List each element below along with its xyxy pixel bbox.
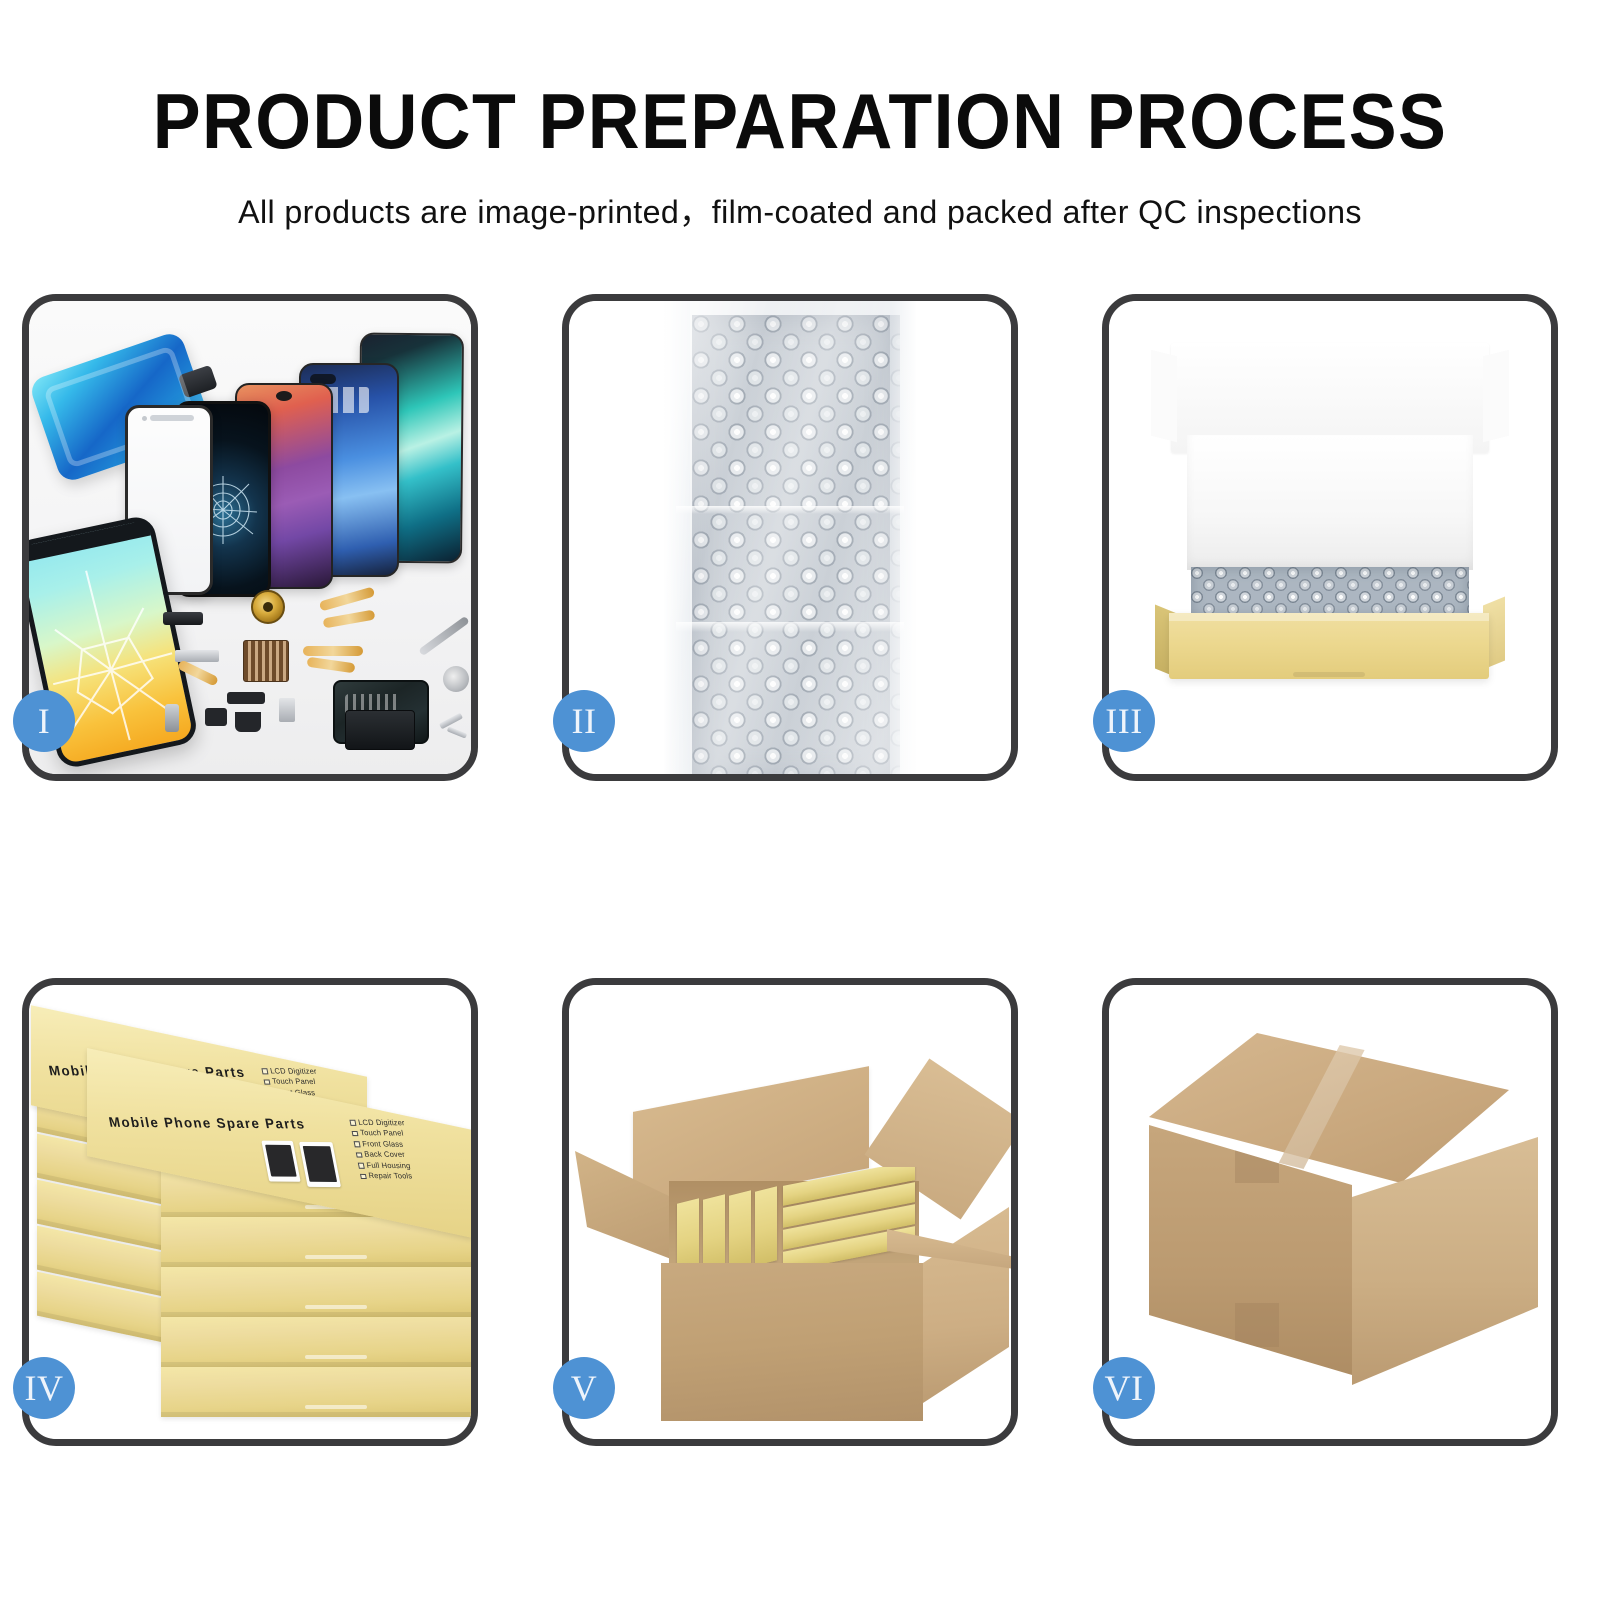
checklist-item: LCD Digitizer	[269, 1066, 317, 1077]
carton-contents	[673, 1167, 917, 1271]
step-numeral: I	[38, 703, 51, 739]
step-badge-3: III	[1093, 690, 1155, 752]
step-badge-1: I	[13, 690, 75, 752]
step-2-image	[569, 301, 1011, 774]
carton-left-face	[1149, 1125, 1352, 1375]
step-badge-5: V	[553, 1357, 615, 1419]
step-numeral: III	[1105, 703, 1142, 739]
step-badge-6: VI	[1093, 1357, 1155, 1419]
step-5-image	[569, 985, 1011, 1439]
step-numeral: IV	[25, 1370, 64, 1406]
step-6-image	[1109, 985, 1551, 1439]
step-panel-5: V	[562, 978, 1018, 1446]
step-3-image	[1109, 301, 1551, 774]
step-numeral: II	[572, 703, 597, 739]
carton-front-face	[661, 1263, 923, 1421]
step-panel-4: Mobile Phone Spare Parts LCD Digitizer T…	[22, 978, 478, 1446]
process-step-grid: I II	[0, 0, 1600, 1600]
step-4-image: Mobile Phone Spare Parts LCD Digitizer T…	[29, 985, 471, 1439]
checklist-item: Repair Tools	[368, 1171, 414, 1182]
stacked-boxes-scene: Mobile Phone Spare Parts LCD Digitizer T…	[29, 985, 471, 1439]
checklist-item: LCD Digitizer	[357, 1118, 405, 1129]
step-badge-2: II	[553, 690, 615, 752]
bubble-wrap-scene	[569, 301, 1011, 774]
step-panel-1: I	[22, 294, 478, 781]
retail-box-brand: Mobile Phone Spare Parts	[108, 1114, 307, 1131]
infographic-page: PRODUCT PREPARATION PROCESS All products…	[0, 0, 1600, 1600]
phones-and-parts-scene	[29, 301, 471, 774]
cleaning-brush	[443, 666, 469, 692]
step-numeral: V	[571, 1370, 598, 1406]
box-front-panel	[1169, 613, 1489, 679]
checklist-item: Full Housing	[366, 1161, 412, 1172]
checklist-item: Back Cover	[364, 1150, 407, 1161]
battery-part	[345, 710, 415, 750]
checklist-item: Touch Panel	[271, 1077, 316, 1088]
step-numeral: VI	[1105, 1370, 1144, 1406]
step-1-image	[29, 301, 471, 774]
repair-tool	[418, 616, 470, 657]
sealed-carton-scene	[1109, 985, 1551, 1439]
step-panel-6: VI	[1102, 978, 1558, 1446]
spare-parts-cluster	[147, 588, 471, 766]
checklist-item: Touch Panel	[359, 1128, 404, 1139]
open-retail-box-scene	[1109, 301, 1551, 774]
bubble-pattern	[692, 315, 900, 774]
bubble-wrap-insert	[1191, 567, 1469, 619]
step-panel-3: III	[1102, 294, 1558, 781]
box-stack: Mobile Phone Spare Parts LCD Digitizer T…	[29, 985, 471, 1439]
retail-box-checklist: LCD Digitizer Touch Panel Front Glass Ba…	[349, 1118, 416, 1183]
carton-right-face	[923, 1207, 1009, 1403]
foam-liner	[1187, 435, 1473, 570]
bubble-wrap-bag	[664, 301, 916, 774]
step-panel-2: II	[562, 294, 1018, 781]
open-carton-scene	[569, 985, 1011, 1439]
checklist-item: Front Glass	[362, 1139, 405, 1150]
step-badge-4: IV	[13, 1357, 75, 1419]
